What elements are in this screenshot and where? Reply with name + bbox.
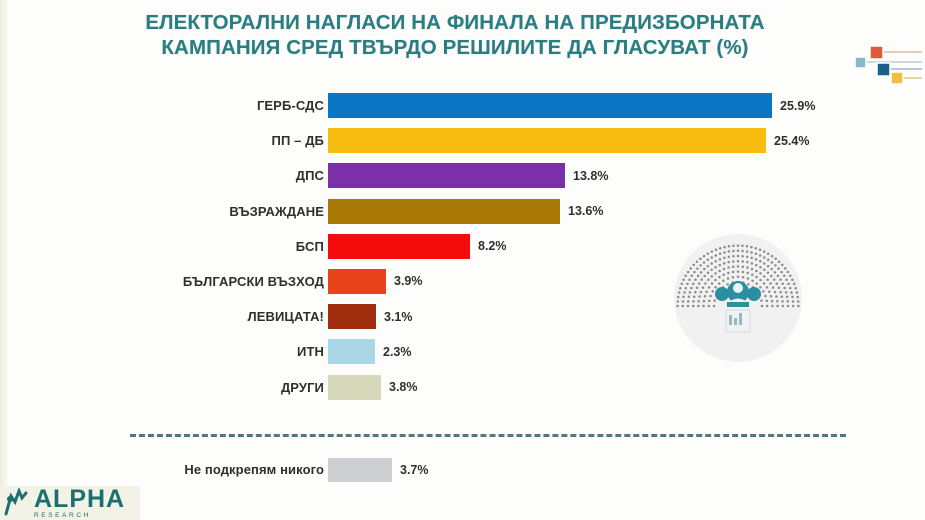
bar-gerb-sds[interactable] bbox=[328, 93, 772, 118]
bar-label-gerb-sds: ГЕРБ-СДС bbox=[257, 88, 324, 123]
bar-balgarski-vazhod[interactable] bbox=[328, 269, 386, 294]
title-line-1: ЕЛЕКТОРАЛНИ НАГЛАСИ НА ФИНАЛА НА ПРЕДИЗБ… bbox=[145, 11, 764, 34]
bar-levitsata[interactable] bbox=[328, 304, 376, 329]
bar-value-bsp: 8.2% bbox=[478, 239, 507, 253]
table-row: ПП – ДБ 25.4% bbox=[0, 123, 925, 158]
bar-value-levitsata: 3.1% bbox=[384, 310, 413, 324]
bar-value-itn: 2.3% bbox=[383, 345, 412, 359]
logo-wordmark: ALPHA bbox=[34, 487, 125, 512]
table-row: БЪЛГАРСКИ ВЪЗХОД 3.9% bbox=[0, 264, 925, 299]
logo-subtext: RESEARCH bbox=[34, 513, 125, 520]
bar-drugi[interactable] bbox=[328, 375, 381, 400]
bar-label-pp-db: ПП – ДБ bbox=[272, 123, 324, 158]
bar-value-dps: 13.8% bbox=[573, 169, 608, 183]
bar-label-levitsata: ЛЕВИЦАТА! bbox=[247, 299, 324, 334]
bar-value-vazrazhdane: 13.6% bbox=[568, 204, 603, 218]
bar-rows: ГЕРБ-СДС 25.9% ПП – ДБ 25.4% ДПС 13.8% В… bbox=[0, 88, 925, 405]
bar-vazrazhdane[interactable] bbox=[328, 199, 560, 224]
bar-pp-db[interactable] bbox=[328, 128, 766, 153]
bar-label-no-support: Не подкрепям никого bbox=[184, 455, 324, 485]
bar-container-gerb-sds: 25.9% bbox=[328, 93, 815, 118]
bar-bsp[interactable] bbox=[328, 234, 470, 259]
table-row: ИТН 2.3% bbox=[0, 334, 925, 369]
bar-container-pp-db: 25.4% bbox=[328, 128, 809, 153]
bar-label-vazrazhdane: ВЪЗРАЖДАНЕ bbox=[229, 194, 324, 229]
title-line-2: КАМПАНИЯ СРЕД ТВЪРДО РЕШИЛИТЕ ДА ГЛАСУВА… bbox=[85, 35, 825, 60]
bar-container-vazrazhdane: 13.6% bbox=[328, 199, 603, 224]
bar-container-no-support: 3.7% bbox=[328, 458, 429, 482]
section-divider bbox=[130, 434, 846, 437]
table-row-no-support: Не подкрепям никого 3.7% bbox=[0, 455, 925, 485]
bar-value-balgarski-vazhod: 3.9% bbox=[394, 274, 423, 288]
bar-label-drugi: ДРУГИ bbox=[281, 370, 324, 405]
page-title: ЕЛЕКТОРАЛНИ НАГЛАСИ НА ФИНАЛА НА ПРЕДИЗБ… bbox=[85, 10, 825, 60]
bar-label-bsp: БСП bbox=[296, 229, 324, 264]
bar-container-dps: 13.8% bbox=[328, 163, 608, 188]
table-row: ДПС 13.8% bbox=[0, 158, 925, 193]
table-row: ГЕРБ-СДС 25.9% bbox=[0, 88, 925, 123]
table-row: БСП 8.2% bbox=[0, 229, 925, 264]
bar-value-gerb-sds: 25.9% bbox=[780, 99, 815, 113]
bar-no-support[interactable] bbox=[328, 458, 392, 482]
decorative-sliders-icon bbox=[852, 36, 925, 86]
table-row: ДРУГИ 3.8% bbox=[0, 370, 925, 405]
alpha-research-logo-mark bbox=[2, 488, 32, 518]
bar-value-no-support: 3.7% bbox=[400, 463, 429, 477]
bar-label-dps: ДПС bbox=[296, 158, 324, 193]
bar-container-itn: 2.3% bbox=[328, 339, 412, 364]
bar-itn[interactable] bbox=[328, 339, 375, 364]
bar-dps[interactable] bbox=[328, 163, 565, 188]
bar-container-levitsata: 3.1% bbox=[328, 304, 413, 329]
bar-container-bsp: 8.2% bbox=[328, 234, 507, 259]
table-row: ЛЕВИЦАТА! 3.1% bbox=[0, 299, 925, 334]
table-row: ВЪЗРАЖДАНЕ 13.6% bbox=[0, 194, 925, 229]
bar-container-drugi: 3.8% bbox=[328, 375, 418, 400]
electoral-poll-chart: ЕЛЕКТОРАЛНИ НАГЛАСИ НА ФИНАЛА НА ПРЕДИЗБ… bbox=[0, 0, 925, 520]
bar-label-balgarski-vazhod: БЪЛГАРСКИ ВЪЗХОД bbox=[183, 264, 324, 299]
bar-container-balgarski-vazhod: 3.9% bbox=[328, 269, 423, 294]
alpha-research-logo: ALPHA RESEARCH bbox=[0, 486, 140, 520]
bar-label-itn: ИТН bbox=[297, 334, 324, 369]
bar-value-drugi: 3.8% bbox=[389, 380, 418, 394]
bar-value-pp-db: 25.4% bbox=[774, 134, 809, 148]
